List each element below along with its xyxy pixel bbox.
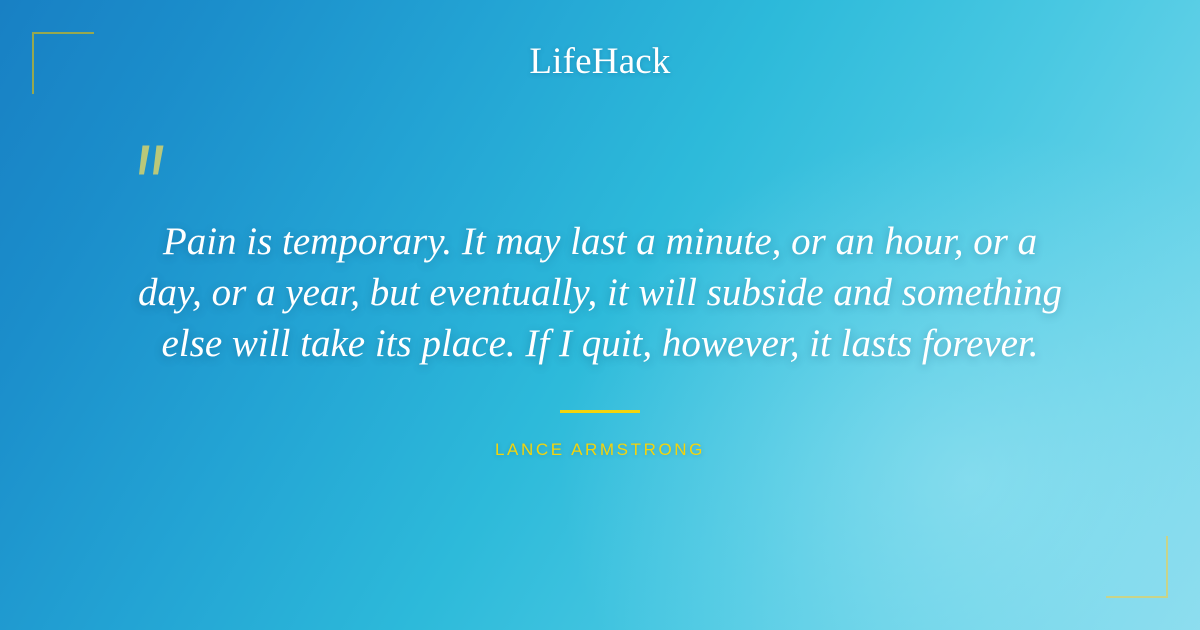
corner-bracket-vertical-bar <box>1166 536 1168 598</box>
quote-card: LifeHack Pain is temporary. It may last … <box>0 0 1200 630</box>
quote-line: day, or a year, but eventually, it will … <box>70 267 1130 318</box>
quote-line: else will take its place. If I quit, how… <box>70 318 1130 369</box>
quote-line: Pain is temporary. It may last a minute,… <box>70 216 1130 267</box>
quote-text: Pain is temporary. It may last a minute,… <box>70 216 1130 369</box>
quote-mark-icon <box>128 139 188 199</box>
corner-bracket-bottom-right-icon <box>1106 536 1168 598</box>
corner-bracket-horizontal-bar <box>32 32 94 34</box>
author-divider <box>560 410 640 413</box>
quote-author: LANCE ARMSTRONG <box>0 440 1200 460</box>
brand-logo[interactable]: LifeHack <box>0 41 1200 83</box>
corner-bracket-horizontal-bar <box>1106 596 1168 598</box>
background-glow <box>560 130 1200 630</box>
